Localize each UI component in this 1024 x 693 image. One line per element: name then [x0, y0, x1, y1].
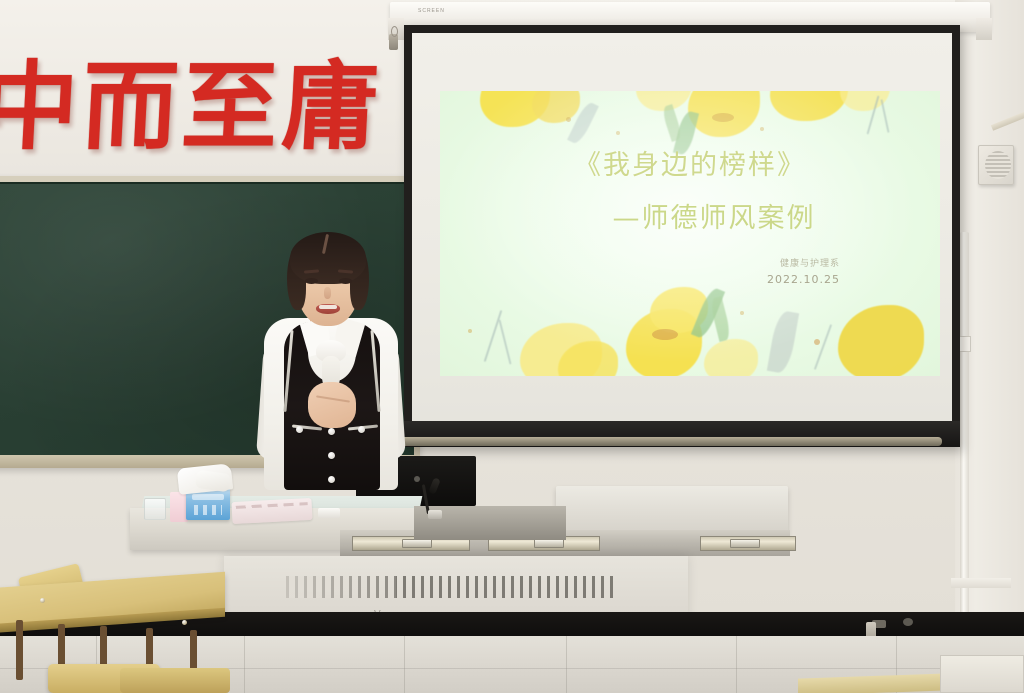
desk-screw — [40, 598, 45, 603]
flower-petal — [838, 305, 924, 376]
slide-department: 健康与护理系 — [780, 256, 840, 269]
leaf — [767, 310, 799, 375]
microphone-base — [428, 510, 442, 519]
stem — [484, 310, 503, 362]
flower-petal — [704, 339, 758, 376]
stem — [814, 324, 832, 370]
vest-button — [328, 476, 335, 483]
rail-clip — [402, 539, 432, 548]
clasped-hands — [308, 382, 356, 428]
cabinet-vent-highlight — [286, 576, 396, 598]
housing-label: SCREEN — [418, 8, 445, 14]
accent-dot — [760, 127, 764, 131]
flower-petal — [770, 91, 848, 121]
screen-bracket-right — [976, 18, 992, 40]
tile-seam — [244, 636, 245, 693]
hanging-key-icon[interactable] — [389, 34, 398, 50]
rail-clip — [534, 539, 564, 548]
tile-seam — [566, 636, 567, 693]
accent-dot — [616, 131, 620, 135]
wall-conduit-base — [951, 578, 1011, 588]
rail-clip — [730, 539, 760, 548]
vest-button — [296, 426, 303, 433]
teeth — [319, 305, 337, 309]
wall-speaker-icon — [978, 145, 1014, 185]
vest-button — [328, 428, 335, 435]
front-desk-edge[interactable] — [120, 668, 230, 693]
hair-top — [290, 232, 366, 284]
eye-right — [339, 278, 352, 284]
accent-dot — [468, 329, 472, 333]
presentation-slide: 《我身边的榜样》 —师德师风案例 健康与护理系 2022.10.25 — [440, 91, 940, 376]
speaker-grill — [985, 151, 1011, 179]
slide-subtitle: —师德师风案例 — [440, 196, 940, 235]
presenter — [240, 230, 420, 490]
stem — [880, 99, 889, 133]
stem — [498, 319, 511, 364]
vest-button — [328, 452, 335, 459]
desk-screw — [182, 620, 187, 625]
floor-panel — [940, 655, 1024, 693]
baseboard-object — [903, 618, 913, 626]
vest-button — [358, 426, 365, 433]
desk-leg — [16, 620, 23, 680]
nose — [324, 287, 331, 299]
tile-seam — [736, 636, 737, 693]
tissue-box-band — [192, 494, 224, 500]
tile-seam — [404, 636, 405, 693]
wall-calligraphy: 中而至庸 — [0, 48, 385, 166]
clear-plastic-item[interactable] — [144, 498, 166, 520]
accent-dot — [566, 117, 571, 122]
projector-screen-surface: 《我身边的榜样》 —师德师风案例 健康与护理系 2022.10.25 — [412, 33, 952, 421]
flower-center — [712, 113, 734, 122]
stacked-papers[interactable] — [231, 498, 312, 524]
accent-dot — [740, 311, 744, 315]
tissue-box-pattern — [194, 505, 222, 515]
eye-left — [305, 278, 318, 284]
slide-date: 2022.10.25 — [767, 273, 840, 286]
flower-center — [652, 329, 678, 340]
accent-dot — [814, 339, 820, 345]
projector-screen-roller — [382, 437, 942, 446]
slide-title: 《我身边的榜样》 — [440, 143, 940, 182]
wall-conduit — [960, 232, 969, 632]
small-white-box[interactable] — [318, 508, 340, 518]
classroom-scene: 中而至庸 SCREEN — [0, 0, 1024, 693]
projector-screen: 《我身边的榜样》 —师德师风案例 健康与护理系 2022.10.25 — [404, 25, 960, 447]
flower-petal — [532, 91, 580, 123]
